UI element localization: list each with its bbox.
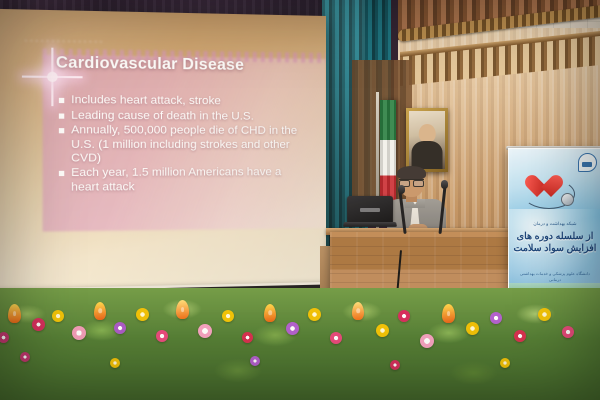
roll-up-banner: شبکه بهداشت و درمان از سلسله دوره های اف…	[508, 148, 600, 300]
banner-headline: از سلسله دوره های افزایش سواد سلامت	[513, 231, 597, 255]
laptop-lid	[347, 196, 393, 223]
flower	[538, 308, 551, 321]
flower-arrangement	[0, 288, 600, 400]
projection-screen: • • • • • • • • • • • • • • • Cardiovasc…	[0, 9, 326, 291]
flower	[442, 304, 455, 323]
flower	[8, 304, 21, 323]
speaker-hair	[397, 166, 426, 180]
flower	[514, 330, 526, 342]
laptop-keyboard-base	[343, 222, 397, 227]
flower	[114, 322, 126, 334]
flower	[222, 310, 234, 322]
flower	[490, 312, 502, 324]
flower	[52, 310, 64, 322]
screenshot-scene: • • • • • • • • • • • • • • • Cardiovasc…	[0, 0, 600, 400]
organization-logo-icon	[578, 153, 597, 172]
flower	[0, 332, 9, 343]
banner-headline-line1: از سلسله دوره های	[513, 231, 597, 243]
slide-bullet: Each year, 1.5 million Americans have a …	[59, 166, 310, 195]
flower	[376, 324, 389, 337]
portrait-image	[409, 111, 445, 169]
flower	[264, 304, 276, 322]
flower	[562, 326, 574, 338]
flower	[500, 358, 510, 368]
flower	[390, 360, 400, 370]
flower	[466, 322, 479, 335]
flower	[94, 302, 106, 320]
slide-bullet: Includes heart attack, stroke	[59, 94, 310, 110]
flower	[32, 318, 45, 331]
flower	[398, 310, 410, 322]
banner-headline-line2: افزایش سواد سلامت	[513, 243, 597, 255]
microphone-head	[441, 180, 448, 189]
flower	[308, 308, 321, 321]
laptop	[344, 196, 396, 234]
framed-portrait	[406, 108, 448, 172]
flower	[330, 332, 342, 344]
banner-subtitle: شبکه بهداشت و درمان	[514, 221, 596, 227]
slide-bullet: Leading cause of death in the U.S.	[59, 109, 310, 124]
microphone-head	[398, 185, 405, 194]
slide-title: Cardiovascular Disease	[56, 53, 244, 74]
flower	[176, 300, 189, 319]
flower	[136, 308, 149, 321]
flower	[156, 330, 168, 342]
flower	[198, 324, 212, 338]
screen-surface: • • • • • • • • • • • • • • • Cardiovasc…	[0, 9, 326, 291]
laptop-logo	[360, 208, 380, 212]
portrait-body	[412, 141, 443, 169]
heart-icon	[531, 176, 557, 200]
flower	[420, 334, 434, 348]
flower	[250, 356, 260, 366]
flower	[286, 322, 299, 335]
flower	[72, 326, 86, 340]
slide-bullet-list: Includes heart attack, stroke Leading ca…	[59, 94, 310, 196]
flower	[20, 352, 30, 362]
eyeglasses-icon	[399, 179, 424, 185]
banner-footer: دانشگاه علوم پزشکی و خدمات بهداشتی درمان…	[514, 271, 596, 282]
stethoscope-chestpiece-icon	[561, 193, 574, 206]
flower	[352, 302, 364, 320]
flower	[110, 358, 120, 368]
slide-bullet: Annually, 500,000 people die of CHD in t…	[59, 124, 310, 166]
flower	[242, 332, 253, 343]
